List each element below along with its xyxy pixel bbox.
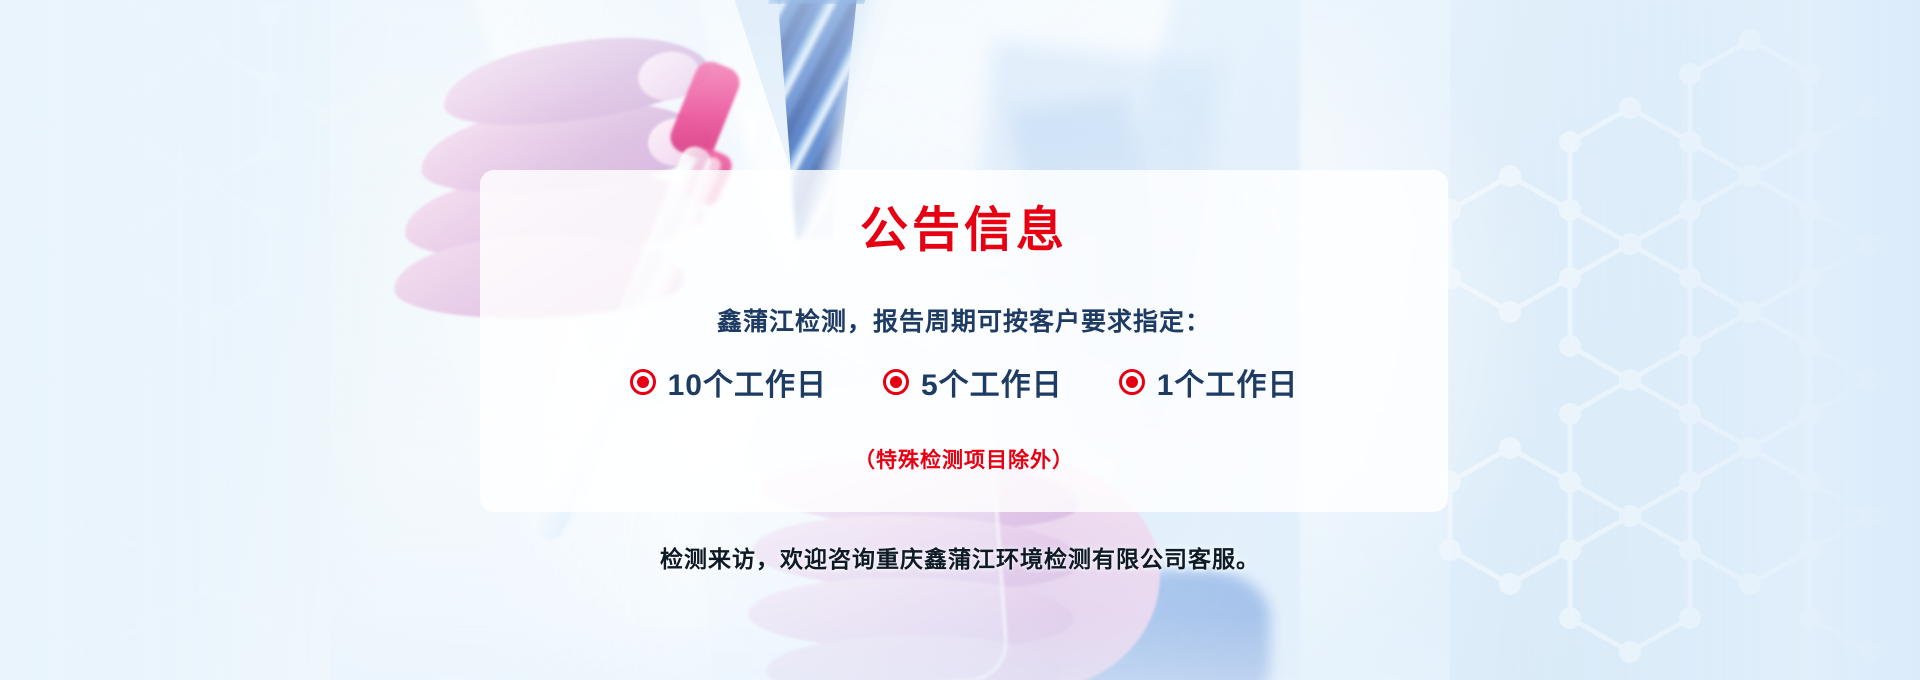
turnaround-options-list: 10个工作日 5个工作日 1个工作日 <box>630 360 1299 404</box>
announcement-card: 公告信息 鑫蒲江检测，报告周期可按客户要求指定： 10个工作日 5个工作日 1个… <box>480 170 1448 512</box>
announcement-banner: 公告信息 鑫蒲江检测，报告周期可按客户要求指定： 10个工作日 5个工作日 1个… <box>0 0 1920 680</box>
option-label: 5个工作日 <box>921 360 1063 404</box>
option-5-working-days[interactable]: 5个工作日 <box>883 360 1063 404</box>
exception-note: （特殊检测项目除外） <box>854 444 1074 474</box>
option-10-working-days[interactable]: 10个工作日 <box>630 360 827 404</box>
radio-selected-icon[interactable] <box>1119 369 1145 395</box>
option-label: 1个工作日 <box>1157 360 1299 404</box>
radio-selected-icon[interactable] <box>630 369 656 395</box>
footer-contact-text: 检测来访，欢迎咨询重庆鑫蒲江环境检测有限公司客服。 <box>0 540 1920 574</box>
radio-selected-icon[interactable] <box>883 369 909 395</box>
option-label: 10个工作日 <box>668 360 827 404</box>
subtitle-text: 鑫蒲江检测，报告周期可按客户要求指定： <box>717 302 1211 338</box>
page-title: 公告信息 <box>860 190 1068 260</box>
option-1-working-day[interactable]: 1个工作日 <box>1119 360 1299 404</box>
